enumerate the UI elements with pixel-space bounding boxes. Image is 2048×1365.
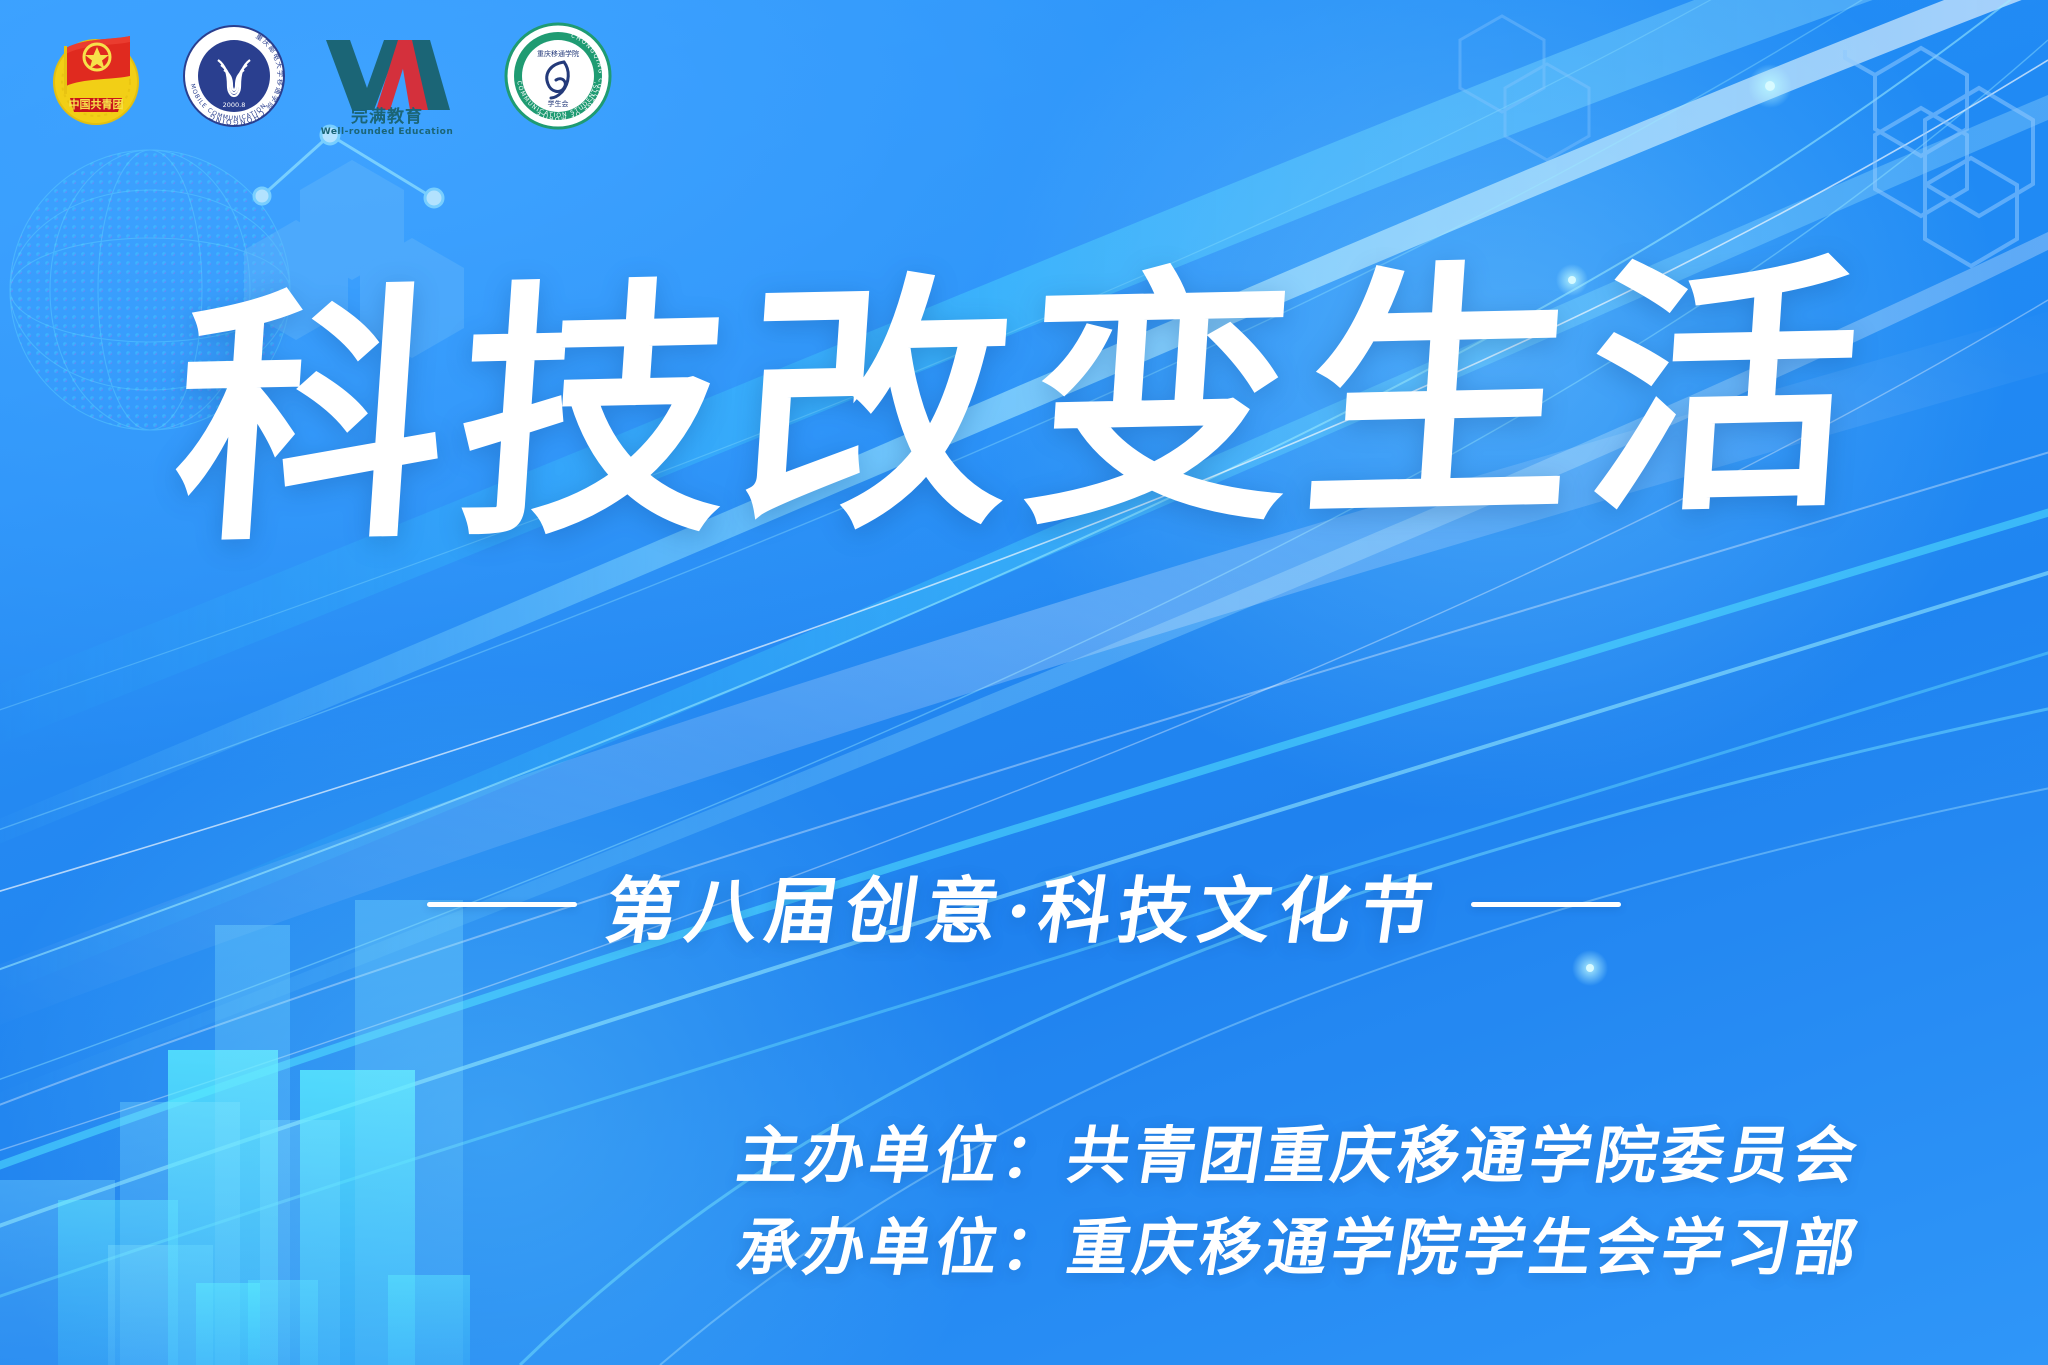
sponsor-logo-row: 中国共青团 重庆邮电大学移通学院 CHONGQING MOBILE COMMUN… [44,22,612,135]
subtitle-rule-right [1471,902,1621,907]
communist-youth-league-emblem: 中国共青团 [44,24,148,133]
organizers-block: 主办单位：共青团重庆移通学院委员会 承办单位：重庆移通学院学生会学习部 [738,1110,1860,1294]
svg-text:中国共青团: 中国共青团 [69,97,124,111]
svg-text:2000.8: 2000.8 [223,101,246,109]
subtitle-rule-left [427,902,577,907]
svg-text:学生会: 学生会 [548,99,569,108]
well-rounded-education-logo: 完满教育 Well-rounded Education [320,24,454,133]
organizer-line-coordinator: 承办单位：重庆移通学院学生会学习部 [731,1202,1868,1294]
chongqing-college-of-mobile-communication-emblem: 重庆邮电大学移通学院 CHONGQING MOBILE COMMUNICATIO… [182,24,286,133]
main-title-block: 科技改变生活 [0,268,2048,541]
svg-text:重庆移通学院: 重庆移通学院 [537,49,579,58]
students-union-emblem: CHONGQING COLLEGE OF MOBILE COMMUNICATIO… [504,22,612,135]
organizer-line-host: 主办单位：共青团重庆移通学院委员会 [731,1110,1868,1202]
well-rounded-education-tagline: Well-rounded Education [320,127,454,137]
page-title: 科技改变生活 [168,250,1881,559]
subtitle-text: 第八届创意·科技文化节 [600,852,1448,957]
poster-canvas: 中国共青团 重庆邮电大学移通学院 CHONGQING MOBILE COMMUN… [0,0,2048,1365]
svg-text:完满教育: 完满教育 [351,106,423,127]
subtitle-block: 第八届创意·科技文化节 [0,852,2048,957]
